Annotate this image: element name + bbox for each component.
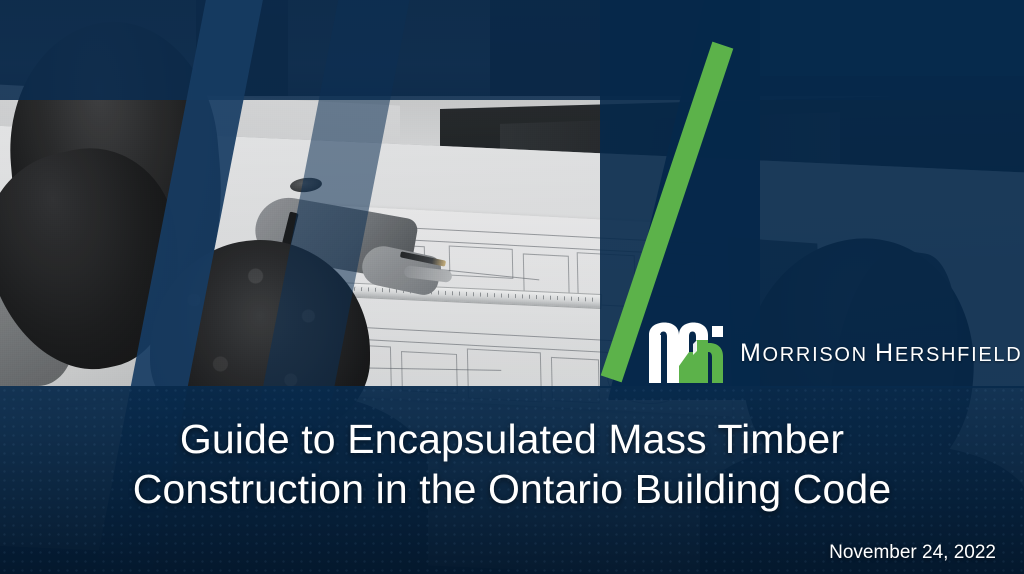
presentation-date: November 24, 2022 — [829, 542, 996, 564]
title-line-1: Guide to Encapsulated Mass Timber — [14, 414, 1010, 464]
page-title: Guide to Encapsulated Mass Timber Constr… — [0, 414, 1024, 514]
title-slide: MORRISON HERSHFIELD Guide to Encapsulate… — [0, 0, 1024, 574]
mh-monogram-svg — [648, 322, 724, 384]
wordmark-orrison: ORRISON — [763, 344, 868, 366]
brand-wordmark: MORRISON HERSHFIELD — [740, 339, 1022, 368]
brand-logo: MORRISON HERSHFIELD — [648, 322, 1022, 384]
wordmark-h: H — [875, 339, 895, 367]
wordmark-ershfield: ERSHFIELD — [895, 344, 1023, 366]
wordmark-m: M — [740, 339, 763, 367]
title-line-2: Construction in the Ontario Building Cod… — [14, 464, 1010, 514]
navy-right-top-band — [760, 0, 1024, 76]
mh-monogram-icon — [648, 322, 724, 384]
